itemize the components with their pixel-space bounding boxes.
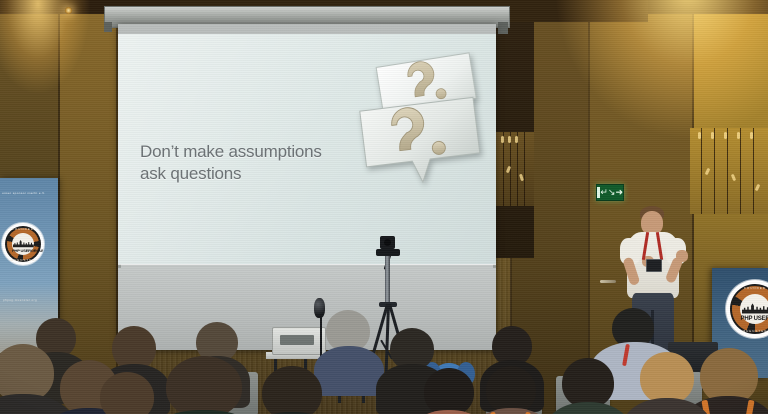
projection-screen: Don’t make assumptions ask questions	[118, 24, 496, 350]
city-skyline-icon	[13, 239, 34, 247]
logo-wordmark-left: PHP USERGROUP	[12, 248, 34, 253]
slide-bottom-hairline	[118, 264, 496, 265]
logo-arc-top-text: FOUNDED	[2, 227, 44, 231]
speaker-hand-right	[676, 250, 688, 262]
head	[262, 366, 322, 414]
head	[486, 366, 536, 414]
slide-headline-line1: Don’t make assumptions	[140, 142, 322, 163]
logo-arc-top-text-right: FOUNDED	[726, 286, 768, 290]
tripod-center-column	[385, 256, 390, 308]
speaker-conference-badge	[646, 259, 662, 272]
head	[100, 372, 154, 414]
head	[166, 356, 242, 414]
running-man-exit-icon: ↵↘	[600, 188, 615, 197]
emergency-exit-sign: ↵↘ ➜	[596, 184, 624, 201]
projector-lens-panel	[280, 335, 314, 345]
screen-top-strip	[118, 24, 496, 34]
microphone-head	[314, 298, 325, 318]
decorative-slat-panel-left	[496, 132, 534, 206]
ceiling-spotlight	[65, 7, 72, 14]
head	[640, 352, 694, 404]
head	[424, 368, 474, 414]
head	[562, 358, 614, 408]
exit-arrow-icon: ➜	[615, 188, 623, 197]
conference-photo-scene: ↵↘ ➜ Don’t make assumptions ask question…	[0, 0, 768, 414]
slide-headline-line2: ask questions	[140, 164, 241, 185]
php-usergroup-logo-left: FOUNDED MUENSTER PHP USERGROUP	[2, 223, 44, 265]
projected-slide: Don’t make assumptions ask questions	[118, 34, 496, 264]
screen-housing-bracket-right	[498, 22, 508, 34]
logo-center-disc: PHP USERGROUP	[12, 233, 34, 255]
logo-center-disc-right: PHP USER	[740, 294, 768, 324]
speech-bubble-front	[356, 94, 486, 190]
logo-wordmark-right: PHP USER	[740, 316, 768, 322]
logo-arc-bottom-text-right: MUENSTER	[726, 329, 768, 333]
screen-housing-bracket-left	[104, 22, 112, 32]
logo-arc-bottom-text: MUENSTER	[2, 258, 44, 262]
city-skyline-icon-right	[742, 302, 768, 313]
banner-left-top-text: unser sponsor macht e.V.	[2, 191, 46, 195]
php-usergroup-logo-right: FOUNDED MUENSTER PHP USER	[726, 280, 768, 338]
microphone-stem	[320, 312, 322, 358]
shoulders	[314, 346, 384, 396]
video-camera-lens	[384, 239, 391, 246]
wall-light-glow-left	[0, 0, 120, 190]
